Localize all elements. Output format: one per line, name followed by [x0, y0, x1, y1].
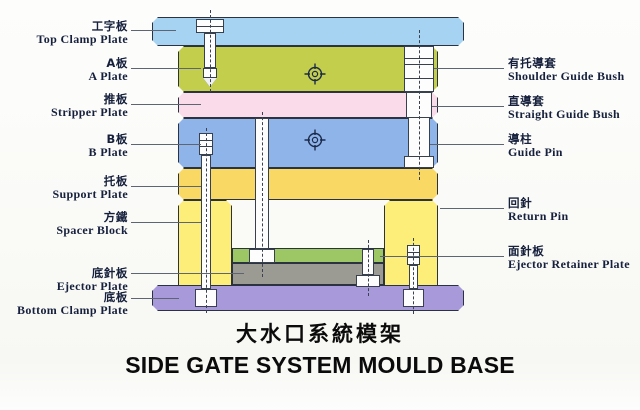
label-cn: A板	[89, 57, 128, 69]
title-chinese: 大水口系統模架	[0, 318, 640, 348]
label-bottom-clamp-plate: 底板 Bottom Clamp Plate	[17, 291, 128, 316]
cap-screw-head-line	[196, 26, 224, 27]
label-b-plate: B板 B Plate	[89, 133, 128, 158]
part-stripper-plate	[178, 92, 438, 118]
label-cn: 直導套	[508, 95, 620, 107]
leader-b-plate	[131, 144, 201, 145]
label-en: Shoulder Guide Bush	[508, 70, 624, 83]
label-return-pin: 回針 Return Pin	[508, 197, 569, 222]
leader-return-pin	[440, 208, 504, 209]
leader-straight-guide-bush	[432, 106, 504, 107]
label-cn: 底板	[17, 291, 128, 303]
label-top-clamp-plate: 工字板 Top Clamp Plate	[37, 20, 128, 45]
crosshair-symbol-b-plate	[303, 128, 327, 152]
crosshair-symbol-a-plate	[303, 62, 327, 86]
label-spacer-block: 方鐵 Spacer Block	[56, 211, 128, 236]
leader-a-plate	[131, 68, 201, 69]
label-straight-guide-bush: 直導套 Straight Guide Bush	[508, 95, 620, 120]
return-pin-right-line-1	[407, 252, 420, 253]
label-ejector-retainer-plate: 面針板 Ejector Retainer Plate	[508, 245, 630, 270]
leader-shoulder-guide-bush	[434, 68, 504, 69]
return-pin-left-line-1	[199, 140, 213, 141]
label-a-plate: A板 A Plate	[89, 57, 128, 82]
label-en: Spacer Block	[56, 224, 128, 237]
label-en: Stripper Plate	[51, 106, 128, 119]
part-support-plate	[178, 168, 438, 200]
label-cn: 回針	[508, 197, 569, 209]
return-pin-left-centerline	[206, 128, 207, 313]
leader-ejector-plate	[131, 273, 244, 274]
leader-ejector-retainer-plate	[380, 256, 504, 257]
cap-screw-centerline	[210, 10, 211, 92]
leader-guide-pin	[430, 144, 504, 145]
label-ejector-plate: 底針板 Ejector Plate	[57, 267, 128, 292]
label-cn: 有托導套	[508, 57, 624, 69]
return-pin-right-centerline	[413, 238, 414, 314]
label-cn: B板	[89, 133, 128, 145]
label-shoulder-guide-bush: 有托導套 Shoulder Guide Bush	[508, 57, 624, 82]
label-en: Guide Pin	[508, 146, 563, 159]
return-pin-right-line-2	[407, 257, 420, 258]
label-cn: 托板	[52, 175, 128, 187]
leader-top-clamp-plate	[131, 30, 176, 31]
label-cn: 底針板	[57, 267, 128, 279]
label-en: Return Pin	[508, 210, 569, 223]
diagram-canvas: 工字板 Top Clamp Plate A板 A Plate 推板 Stripp…	[0, 0, 640, 410]
center-ejector-centerline	[262, 112, 263, 277]
label-en: Ejector Retainer Plate	[508, 258, 630, 271]
label-guide-pin: 導柱 Guide Pin	[508, 133, 563, 158]
ejector-retainer-screw-centerline	[368, 240, 369, 296]
label-en: Bottom Clamp Plate	[17, 304, 128, 317]
label-stripper-plate: 推板 Stripper Plate	[51, 93, 128, 118]
label-cn: 方鐵	[56, 211, 128, 223]
title-english: SIDE GATE SYSTEM MOULD BASE	[0, 352, 640, 379]
leader-spacer-block	[131, 222, 201, 223]
title-block: 大水口系統模架 SIDE GATE SYSTEM MOULD BASE	[0, 318, 640, 379]
label-en: Top Clamp Plate	[37, 33, 128, 46]
leader-bottom-clamp-plate	[131, 298, 179, 299]
label-en: A Plate	[89, 70, 128, 83]
leader-stripper-plate	[131, 104, 201, 105]
label-cn: 導柱	[508, 133, 563, 145]
label-cn: 面針板	[508, 245, 630, 257]
guide-pin-centerline	[419, 30, 420, 180]
label-support-plate: 托板 Support Plate	[52, 175, 128, 200]
label-cn: 推板	[51, 93, 128, 105]
label-en: B Plate	[89, 146, 128, 159]
label-cn: 工字板	[37, 20, 128, 32]
return-pin-left-line-2	[199, 146, 213, 147]
label-en: Support Plate	[52, 188, 128, 201]
leader-support-plate	[131, 186, 201, 187]
label-en: Straight Guide Bush	[508, 108, 620, 121]
